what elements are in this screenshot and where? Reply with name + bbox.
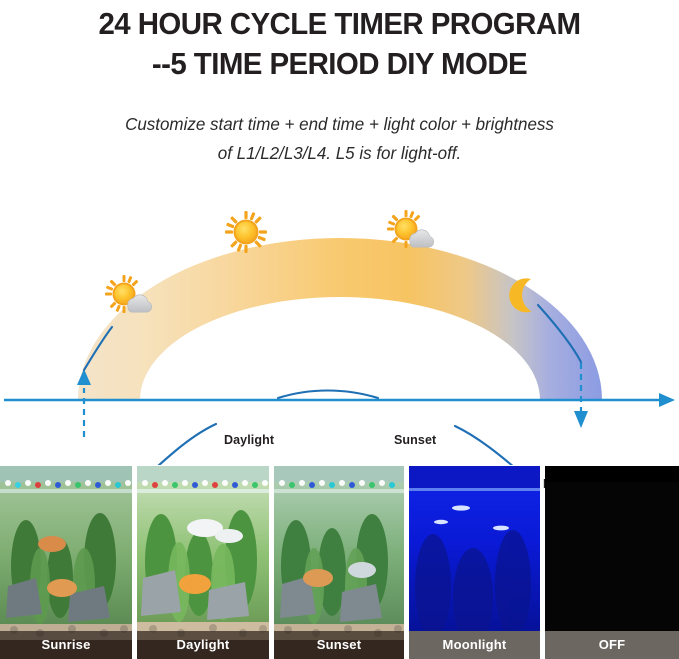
page-title-line1: 24 HOUR CYCLE TIMER PROGRAM [98,6,580,41]
axis-arrowhead [659,393,675,407]
day-cycle-arc [78,238,602,400]
diagram-canvas [0,185,679,465]
photo-caption-sunset: Sunset [274,631,404,659]
photo-caption-daylight: Daylight [137,631,269,659]
sun-icon [225,211,267,253]
photo-panel-off: OFF [545,466,679,659]
photo-panel-daylight: Daylight [137,466,269,659]
connector-sunset-moonlight [455,426,521,465]
photo-caption-sunrise: Sunrise [0,631,132,659]
page-subtitle: Customize start time + end time + light … [10,110,669,168]
icon-connector-curves [148,391,521,466]
photo-caption-off: OFF [545,631,679,659]
diagram-label-daylight: Daylight [224,433,274,447]
aquarium-photo-strip: Sunrise [0,466,679,659]
page-subtitle-line2: of L1/L2/L3/L4. L5 is for light-off. [10,139,669,168]
page-subtitle-line1: Customize start time + end time + light … [125,114,554,134]
photo-panel-moonlight: Moonlight [409,466,540,659]
sun-behind-cloud-icon-sunset [387,210,434,248]
photo-panel-sunset: Sunset [274,466,404,659]
photo-caption-moonlight: Moonlight [409,631,540,659]
photo-panel-sunrise: Sunrise [0,466,132,659]
off-arrowhead [574,411,588,428]
page-title: 24 HOUR CYCLE TIMER PROGRAM --5 TIME PER… [17,4,662,84]
connector-sunrise-daylight [148,424,216,465]
page-title-line2: --5 TIME PERIOD DIY MODE [17,44,662,84]
connector-daylight-sunset [278,391,378,399]
diagram-label-sunset: Sunset [394,433,436,447]
infographic-page: 24 HOUR CYCLE TIMER PROGRAM --5 TIME PER… [0,0,679,659]
day-cycle-diagram: Sunrise Daylight Sunset Moonlight ON OFF… [0,185,679,465]
